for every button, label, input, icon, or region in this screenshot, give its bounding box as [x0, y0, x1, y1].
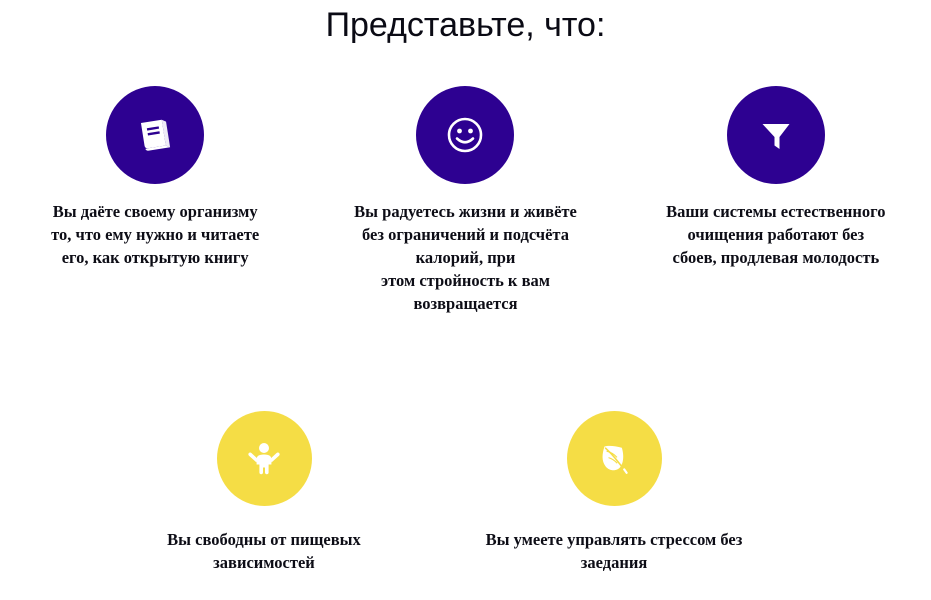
benefit-item-smiley: Вы радуетесь жизни и живёте без ограниче… [310, 86, 620, 315]
benefit-item-book: Вы даёте своему организму то, что ему ну… [0, 86, 310, 315]
page-title: Представьте, что: [0, 4, 931, 46]
benefit-item-freedom: Вы свободны от пищевых зависимостей [118, 411, 410, 574]
benefit-item-leaf: Вы умеете управлять стрессом без заедани… [468, 411, 760, 574]
icon-circle-leaf [567, 411, 662, 506]
benefit-item-funnel: Ваши системы естественного очищения рабо… [621, 86, 931, 315]
row-spacer-mid [410, 411, 468, 574]
smiley-face-icon [444, 114, 486, 156]
benefit-caption: Вы даёте своему организму то, что ему ну… [0, 200, 310, 269]
icon-circle-smiley [416, 86, 514, 184]
benefits-infographic: Представьте, что: Вы [0, 0, 931, 600]
benefit-caption: Ваши системы естественного очищения рабо… [621, 200, 931, 269]
icon-circle-freedom [217, 411, 312, 506]
funnel-filter-icon [755, 114, 797, 156]
benefit-caption: Вы свободны от пищевых зависимостей [118, 528, 410, 574]
icon-circle-funnel [727, 86, 825, 184]
person-arms-raised-icon [244, 439, 284, 479]
row-spacer-left [0, 411, 118, 574]
benefits-row-top: Вы даёте своему организму то, что ему ну… [0, 86, 931, 315]
icon-circle-book [106, 86, 204, 184]
benefits-row-bottom: Вы свободны от пищевых зависимостей Вы у… [0, 411, 931, 574]
book-icon [134, 114, 176, 156]
leaf-icon [593, 438, 635, 480]
benefit-caption: Вы радуетесь жизни и живёте без ограниче… [310, 200, 620, 315]
benefit-caption: Вы умеете управлять стрессом без заедани… [468, 528, 760, 574]
